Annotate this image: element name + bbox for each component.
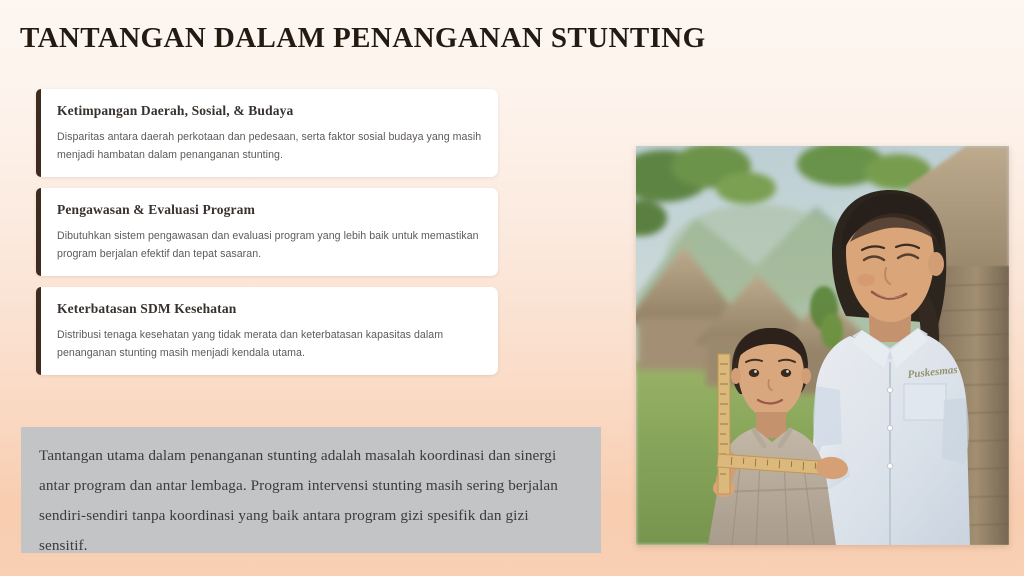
challenge-card-list: Ketimpangan Daerah, Sosial, & Budaya Dis… (36, 89, 498, 386)
card-title: Ketimpangan Daerah, Sosial, & Budaya (57, 103, 482, 119)
photo-health-worker-measuring-child: Puskesmas (636, 146, 1009, 545)
card-accent-bar (36, 89, 41, 177)
summary-text: Tantangan utama dalam penanganan stuntin… (39, 441, 579, 561)
card-title: Pengawasan & Evaluasi Program (57, 202, 482, 218)
challenge-card: Pengawasan & Evaluasi Program Dibutuhkan… (36, 188, 498, 276)
card-description: Distribusi tenaga kesehatan yang tidak m… (57, 326, 482, 362)
page-title: TANTANGAN DALAM PENANGANAN STUNTING (20, 20, 780, 56)
challenge-card: Keterbatasan SDM Kesehatan Distribusi te… (36, 287, 498, 375)
card-description: Dibutuhkan sistem pengawasan dan evaluas… (57, 227, 482, 263)
slide-root: TANTANGAN DALAM PENANGANAN STUNTING Keti… (0, 0, 1024, 576)
photo-illustration: Puskesmas (636, 146, 1009, 545)
summary-callout: Tantangan utama dalam penanganan stuntin… (21, 427, 601, 553)
card-accent-bar (36, 188, 41, 276)
card-description: Disparitas antara daerah perkotaan dan p… (57, 128, 482, 164)
card-accent-bar (36, 287, 41, 375)
card-title: Keterbatasan SDM Kesehatan (57, 301, 482, 317)
challenge-card: Ketimpangan Daerah, Sosial, & Budaya Dis… (36, 89, 498, 177)
